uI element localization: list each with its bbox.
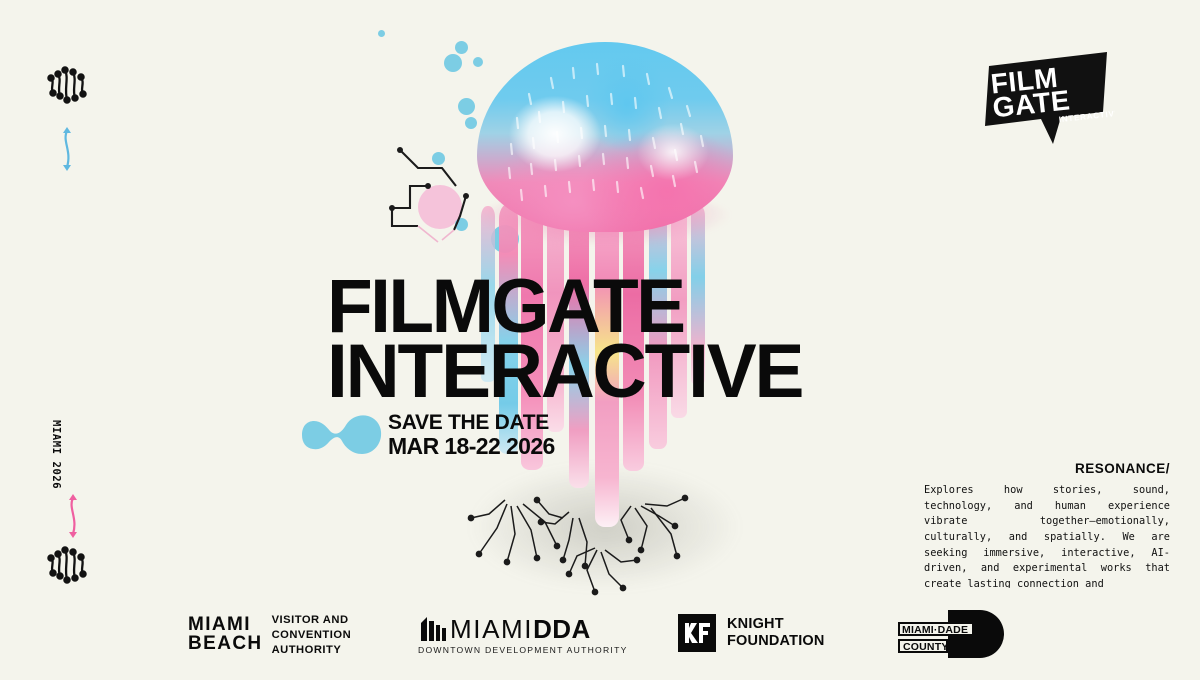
kf-mark [678,614,716,652]
miami-dade-mark: MIAMI·DADE COUNTY [896,608,1001,656]
sponsor-miami-dade-county[interactable]: MIAMI·DADE COUNTY [896,608,1001,656]
miami-beach-subtitle: VISITOR AND CONVENTION AUTHORITY [272,612,352,657]
mb-line-1: MIAMI [188,616,263,634]
pink-wavy-double-arrow [58,492,88,540]
dda-word-light: MIAMI [450,617,533,642]
mb-side-line-1: VISITOR AND [272,613,352,628]
filmgate-interactive-logo[interactable]: FILM GATE INTERACTIVE [975,48,1115,146]
save-the-date-block: SAVE THE DATE MAR 18-22 2026 [388,412,555,459]
resonance-heading: RESONANCE/ [924,461,1170,476]
miami-beach-wordmark: MIAMI BEACH [188,616,263,653]
sponsor-miami-beach-vca[interactable]: MIAMI BEACH VISITOR AND CONVENTION AUTHO… [188,612,351,657]
dda-subtitle: DOWNTOWN DEVELOPMENT AUTHORITY [418,645,628,655]
save-the-date-line-1: SAVE THE DATE [388,412,555,434]
sponsor-knight-foundation[interactable]: KNIGHT FOUNDATION [678,614,825,652]
mb-line-2: BEACH [188,635,263,653]
save-the-date-line-2: MAR 18-22 2026 [388,434,555,458]
cyan-wavy-double-arrow [52,125,82,173]
dda-wordmark-row: MIAMI DDA [418,614,591,642]
jellyfish-bell [477,42,733,232]
jellyfish-scribble-glyph [42,542,94,590]
md-line-2-text: COUNTY [903,641,949,653]
kf-line-1: KNIGHT [727,616,825,633]
resonance-block: RESONANCE/ Explores how stories, sound, … [924,461,1170,588]
mb-side-line-3: AUTHORITY [272,643,352,658]
jellyfish-scribble-glyph [42,62,94,110]
mb-side-line-2: CONVENTION [272,628,352,643]
title-line-2: INTERACTIVE [327,339,802,404]
bell-texture-dashes [477,42,733,232]
dda-word-bold: DDA [533,617,591,642]
knight-foundation-wordmark: KNIGHT FOUNDATION [727,616,825,650]
poster-canvas: FILMGATE INTERACTIVE SAVE THE DATE MAR 1… [0,0,1200,680]
sponsor-bar: MIAMI BEACH VISITOR AND CONVENTION AUTHO… [0,594,1200,680]
page-title: FILMGATE INTERACTIVE [327,274,802,405]
cyan-metaball-shape [288,412,384,458]
vertical-label-miami-2026: MIAMI 2026 [50,420,62,489]
decor-dot [378,30,385,37]
sponsor-miami-dda[interactable]: MIAMI DDA DOWNTOWN DEVELOPMENT AUTHORITY [418,614,628,655]
kf-line-2: FOUNDATION [727,633,825,650]
building-icon [418,614,448,642]
md-line-1-text: MIAMI·DADE [902,624,968,636]
resonance-body: Explores how stories, sound, technology,… [924,483,1170,588]
